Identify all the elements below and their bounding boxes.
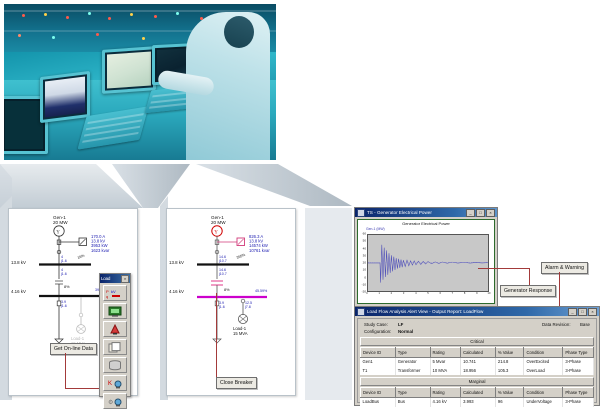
maximize-icon[interactable]: □ [578,308,587,316]
chart-plot-area [367,234,489,292]
column-header[interactable]: Phase Type [563,348,594,358]
chart-legend: Gen-1 (MW) [358,227,494,232]
database-icon[interactable] [103,357,127,373]
alert-table[interactable]: Device IDTypeRatingCalculated% ValueCond… [360,347,594,375]
y-tick: 20 [363,262,366,265]
gen-rating: 20 MW [53,220,68,225]
kv-display-icon[interactable]: PkVq [103,285,127,301]
leader-line-breaker-v [216,293,217,381]
table-cell: Transformer [395,367,430,376]
column-header[interactable]: Rating [430,388,461,398]
window-icon [357,308,365,316]
configuration-label: Configuration: [364,328,398,335]
table-header-row: Device IDTypeRatingCalculated% ValueCond… [361,348,594,358]
maximize-icon[interactable]: □ [476,209,485,217]
alert-window-title-bar[interactable]: Load Flow Analysis Alert View - Output R… [355,307,599,316]
table-cell: 18.956 [461,367,496,376]
x-tick: 9 [476,292,477,295]
leader-genresp-h [478,268,530,269]
operator-monitor-left [40,71,90,123]
table-row[interactable]: Gen1Generator5 Mvar10.741214.8OverExcite… [361,358,594,367]
chart-title: Generator Electrical Power [358,220,494,227]
table-cell: 4.16 kV [430,398,461,407]
table-cell: 3-Phase [563,398,594,407]
meter2-value-3: 10761 kvar [249,248,270,253]
table-cell: 214.8 [495,358,524,367]
table-cell: UnderVoltage [524,398,563,407]
table-cell: Generator [395,358,430,367]
table-row[interactable]: T1Transformer10 MVA18.956105.3OverLoad3-… [361,367,594,376]
y-tick: -10 [362,283,366,286]
column-header[interactable]: % Value [495,388,524,398]
column-header[interactable]: % Value [495,348,524,358]
monitor-icon[interactable] [103,303,127,319]
branch2-pct-lv: 45.59% [255,289,268,293]
gen-rating-2: 20 MW [211,220,226,225]
table-row[interactable]: LoadBusBus4.16 kV3.99396UnderVoltage3-Ph… [361,398,594,407]
y-tick: 30 [363,254,366,257]
leader-line-online-v [65,353,66,389]
column-header[interactable]: Device ID [361,388,396,398]
table-cell: 10 MVA [430,367,461,376]
svg-text:kV: kV [111,289,116,294]
xfmr-pct: 8% [64,285,70,289]
alert-window-body: Study Case: LF Data Revision: Base Confi… [357,318,597,403]
x-tick: 6 [439,292,440,295]
y-tick: 10 [363,269,366,272]
configuration-row: Configuration: Normal [360,328,594,335]
bus2-lv-label: 4.16 kV [169,289,184,294]
table-cell: 3-Phase [563,358,594,367]
table-cell: OverLoad [524,367,563,376]
column-header[interactable]: Calculated [461,388,496,398]
y-tick: 40 [363,247,366,250]
study-case-value: LF [398,321,444,328]
toolbar-close-icon[interactable]: × [121,275,129,283]
table-cell: T1 [361,367,396,376]
operator-monitor-center [102,46,156,94]
meta-spacer [444,321,542,328]
ts-window-title-bar[interactable]: TS - Generator Electrical Power _ □ × [355,208,497,217]
column-header[interactable]: Phase Type [563,388,594,398]
x-tick: 7 [452,292,453,295]
alert-section-header: Critical [360,337,594,346]
ts-generator-power-window[interactable]: TS - Generator Electrical Power _ □ × Ge… [354,207,498,307]
x-tick: 3 [403,292,404,295]
meter-value-3: 1623 kvar [91,248,110,253]
operator-head [224,16,254,48]
minimize-icon[interactable]: _ [466,209,475,217]
x-tick: 1 [378,292,379,295]
branch-pct-hv: 16% [77,253,86,260]
data-revision-value: Base [580,321,590,328]
svg-text:Y: Y [56,230,60,235]
toolbar-title-text: Load [101,274,110,283]
xfmr2-pct: 8% [224,288,230,292]
study-case-row: Study Case: LF Data Revision: Base [360,321,594,328]
x-tick: 10 [488,292,491,295]
study-case-label: Study Case: [364,321,398,328]
bus2-hv-label: 13.8 kV [169,260,184,265]
operator-person [186,12,270,162]
x-tick: 4 [415,292,416,295]
generator-power-curve [368,235,488,291]
get-online-data-icon[interactable]: K [103,375,127,391]
window-icon [357,209,365,217]
chart-x-axis: 012345678910 [367,292,489,301]
ts-window-body: Generator Electrical Power Gen-1 (MW) -2… [357,219,495,304]
column-header[interactable]: Type [395,388,430,398]
load-flow-alert-view-window[interactable]: Load Flow Analysis Alert View - Output R… [354,306,600,406]
one-line-diagram-alarm[interactable]: Gen-1 20 MW Y 826.3 A 13.8 kV 14574 kW 1… [166,208,296,396]
x-tick: 8 [464,292,465,295]
svg-text:j10.7: j10.7 [218,259,227,263]
chart-y-axis: -20-100102030405060 [359,234,367,292]
alert-window-title: Load Flow Analysis Alert View - Output R… [367,307,566,316]
svg-text:j1.6: j1.6 [60,259,67,263]
table-header-row: Device IDTypeRatingCalculated% ValueCond… [361,388,594,398]
meta-spacer-2 [444,328,590,335]
alarm-bell-icon[interactable] [103,321,127,337]
chart-plot-wrapper: -20-100102030405060 012345678910 [367,234,489,292]
control-room-photo [2,2,278,162]
table-cell: 96 [495,398,524,407]
branch2-pct-hv: 355% [236,252,247,259]
y-tick: 50 [363,240,366,243]
x-tick: 5 [427,292,428,295]
alert-section-header: Marginal [360,377,594,386]
generator-response-callout: Generator Response [500,285,556,297]
table-cell: 105.3 [495,367,524,376]
toolbar-title-bar: Load × [100,274,130,283]
column-header[interactable]: Condition [524,348,563,358]
svg-text:j10.7: j10.7 [218,272,227,276]
leader-genresp-v [529,268,530,286]
ts-window-title: TS - Generator Electrical Power [367,208,464,217]
svg-text:⚙: ⚙ [108,399,113,406]
table-cell: Bus [395,398,430,407]
toolbar-button-list: PkVq K ⚙ [100,283,130,411]
alarm-warning-callout: Alarm & Warning [541,262,588,274]
one-line-diagram-alarm-svg: Gen-1 20 MW Y 826.3 A 13.8 kV 14574 kW 1… [167,209,295,395]
x-tick: 2 [391,292,392,295]
table-cell: 3-Phase [563,367,594,376]
bus-lv-label: 4.16 kV [11,289,26,294]
configuration-value: Normal [398,328,444,335]
alert-table[interactable]: Device IDTypeRatingCalculated% ValueCond… [360,387,594,407]
column-header[interactable]: Condition [524,388,563,398]
y-tick: 60 [363,233,366,236]
table-cell: 5 Mvar [430,358,461,367]
copy-report-icon[interactable] [103,339,127,355]
settings-scan-icon[interactable]: ⚙ [103,393,127,409]
load-flow-toolbar-window[interactable]: Load × PkVq K ⚙ [99,273,131,397]
data-revision-label: Data Revision: [542,321,580,328]
minimize-icon[interactable]: _ [568,308,577,316]
load2-rating: 15 MVA [233,331,248,336]
column-header[interactable]: Type [395,348,430,358]
y-tick: 0 [364,276,366,279]
close-icon[interactable]: × [486,209,495,217]
close-icon[interactable]: × [588,308,597,316]
ts-window-controls: _ □ × [466,209,495,217]
svg-text:q: q [106,294,108,299]
table-cell: OverExcited [524,358,563,367]
get-online-data-button[interactable]: Get On-line Data [50,343,97,355]
svg-text:j7.8: j7.8 [244,305,251,309]
svg-text:Y: Y [214,230,218,235]
column-header[interactable]: Rating [430,348,461,358]
table-cell: Gen1 [361,358,396,367]
table-cell: LoadBus [361,398,396,407]
svg-text:j1.6: j1.6 [60,272,67,276]
column-header[interactable]: Calculated [461,348,496,358]
table-cell: 3.993 [461,398,496,407]
column-header[interactable]: Device ID [361,348,396,358]
close-breaker-button[interactable]: Close Breaker [216,377,257,389]
bus-hv-label: 13.8 kV [11,260,26,265]
x-tick: 0 [366,292,367,295]
alert-sections: CriticalDevice IDTypeRatingCalculated% V… [360,337,594,407]
alert-window-controls: _ □ × [568,308,597,316]
svg-text:K: K [108,381,112,387]
table-cell: 10.741 [461,358,496,367]
